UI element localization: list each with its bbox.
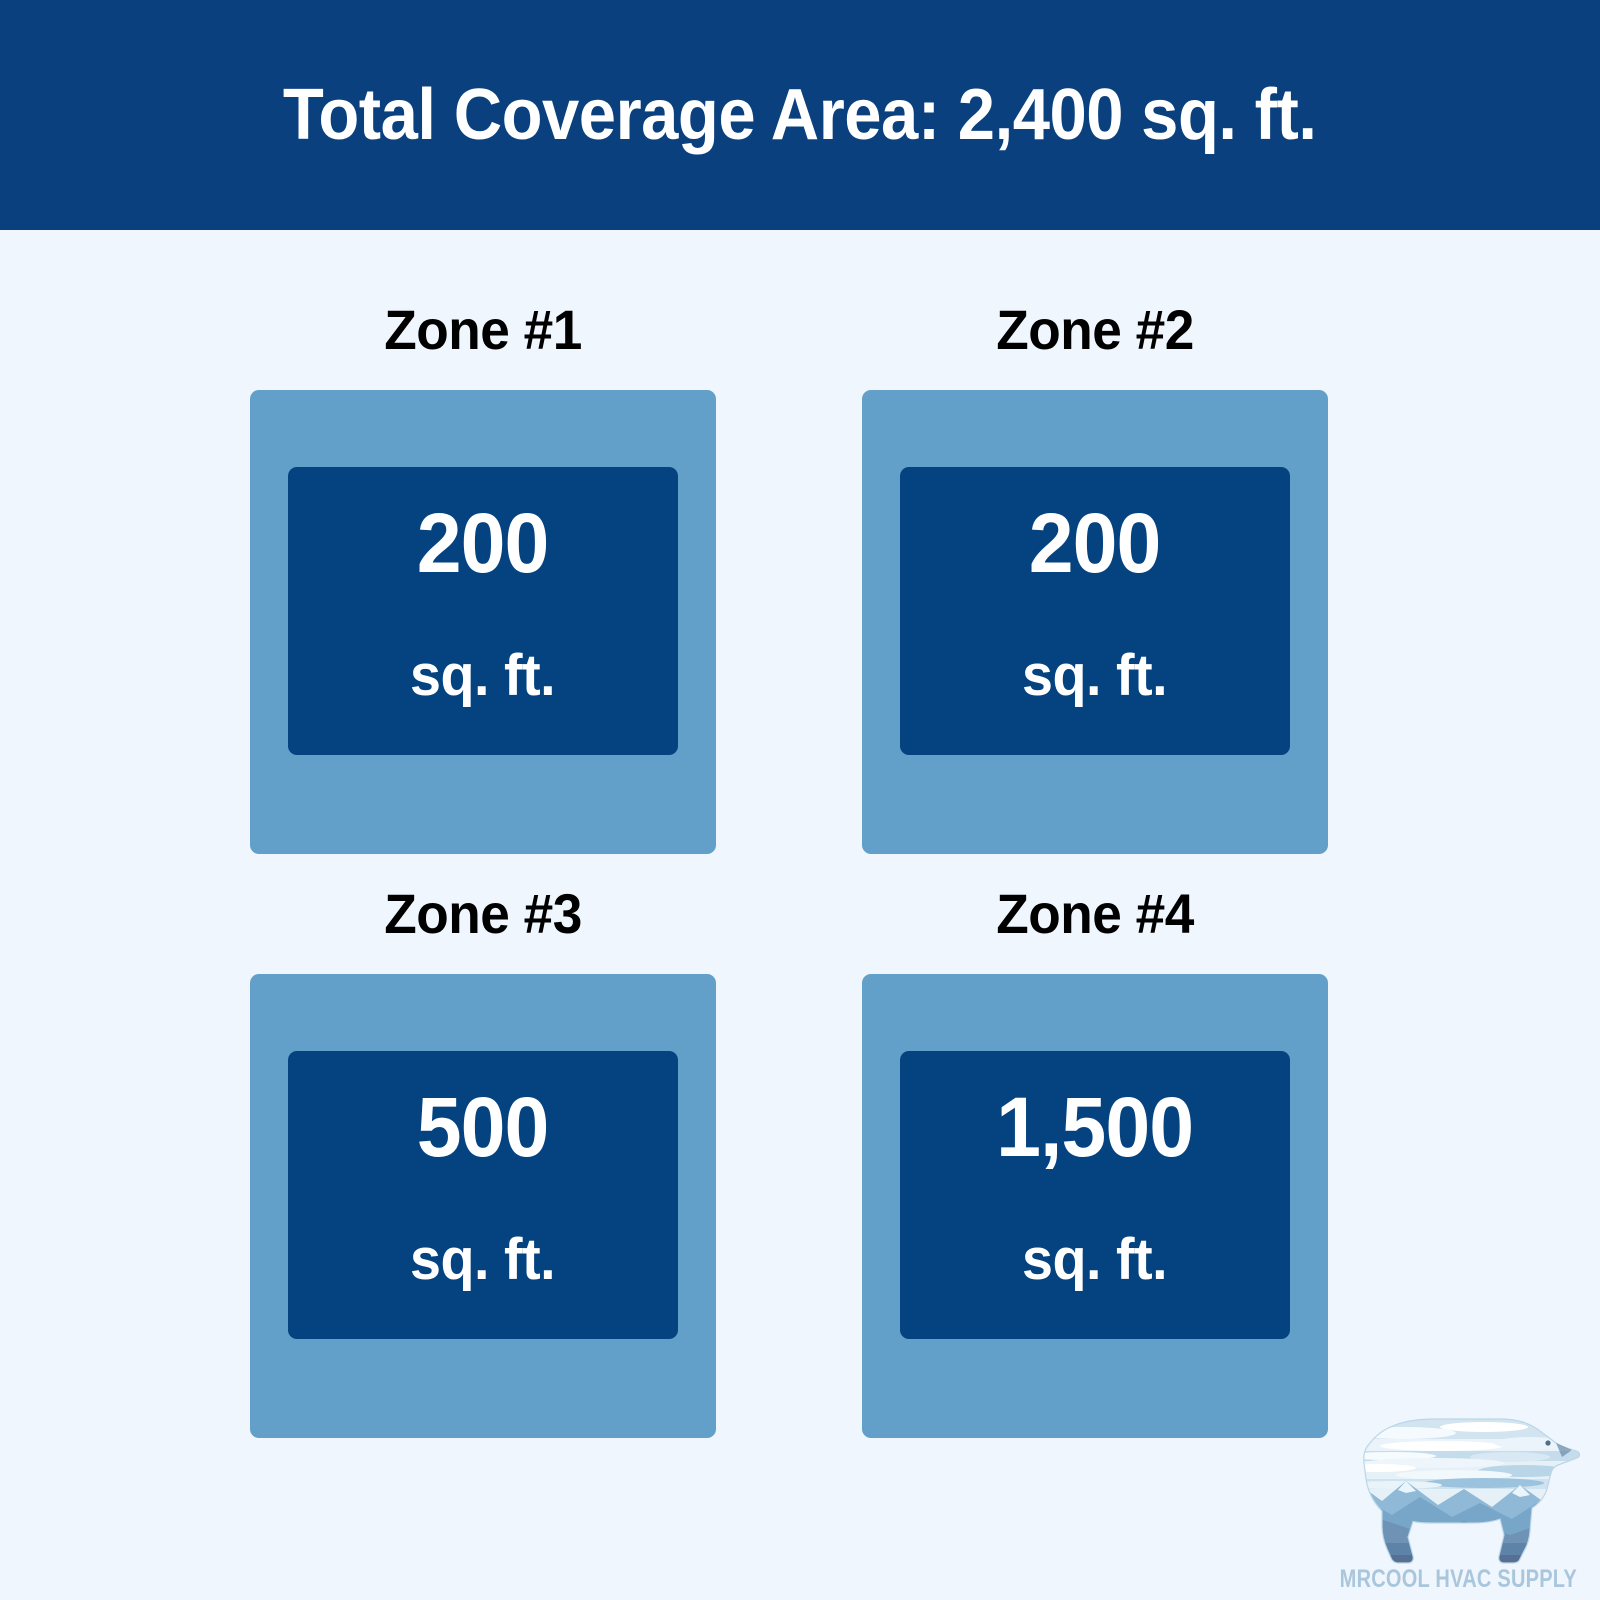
zone-inner-panel-4: 1,500 sq. ft. (900, 1051, 1290, 1339)
zone-unit-3: sq. ft. (410, 1231, 555, 1289)
brand-name: MRCOOL HVAC SUPPLY (1339, 1567, 1576, 1592)
zone-inner-panel-3: 500 sq. ft. (288, 1051, 678, 1339)
zone-grid: Zone #1 200 sq. ft. Zone #2 200 sq. ft. … (250, 270, 1325, 1438)
brand-logo: MRCOOL HVAC SUPPLY (1324, 1396, 1592, 1592)
zone-label-2: Zone #2 (996, 270, 1194, 390)
zone-unit-4: sq. ft. (1022, 1231, 1167, 1289)
zone-label-1: Zone #1 (384, 270, 582, 390)
polar-bear-icon (1334, 1413, 1582, 1565)
zone-value-4: 1,500 (996, 1085, 1193, 1169)
zone-label-4: Zone #4 (996, 854, 1194, 974)
zone-inner-panel-1: 200 sq. ft. (288, 467, 678, 755)
zone-row-1: Zone #1 200 sq. ft. Zone #2 200 sq. ft. (250, 270, 1325, 854)
zone-card-3[interactable]: 500 sq. ft. (250, 974, 716, 1438)
page-title: Total Coverage Area: 2,400 sq. ft. (283, 79, 1317, 151)
zone-unit-2: sq. ft. (1022, 647, 1167, 705)
zone-card-1[interactable]: 200 sq. ft. (250, 390, 716, 854)
zone-card-4[interactable]: 1,500 sq. ft. (862, 974, 1328, 1438)
zone-cell-2[interactable]: Zone #2 200 sq. ft. (862, 270, 1328, 854)
zone-value-1: 200 (417, 501, 549, 585)
zone-row-2: Zone #3 500 sq. ft. Zone #4 1,500 sq. ft… (250, 854, 1325, 1438)
zone-label-3: Zone #3 (384, 854, 582, 974)
zone-inner-panel-2: 200 sq. ft. (900, 467, 1290, 755)
zone-value-3: 500 (417, 1085, 549, 1169)
zone-cell-1[interactable]: Zone #1 200 sq. ft. (250, 270, 716, 854)
header-banner: Total Coverage Area: 2,400 sq. ft. (0, 0, 1600, 230)
zone-cell-4[interactable]: Zone #4 1,500 sq. ft. (862, 854, 1328, 1438)
zone-cell-3[interactable]: Zone #3 500 sq. ft. (250, 854, 716, 1438)
zone-value-2: 200 (1029, 501, 1161, 585)
zone-unit-1: sq. ft. (410, 647, 555, 705)
zone-card-2[interactable]: 200 sq. ft. (862, 390, 1328, 854)
